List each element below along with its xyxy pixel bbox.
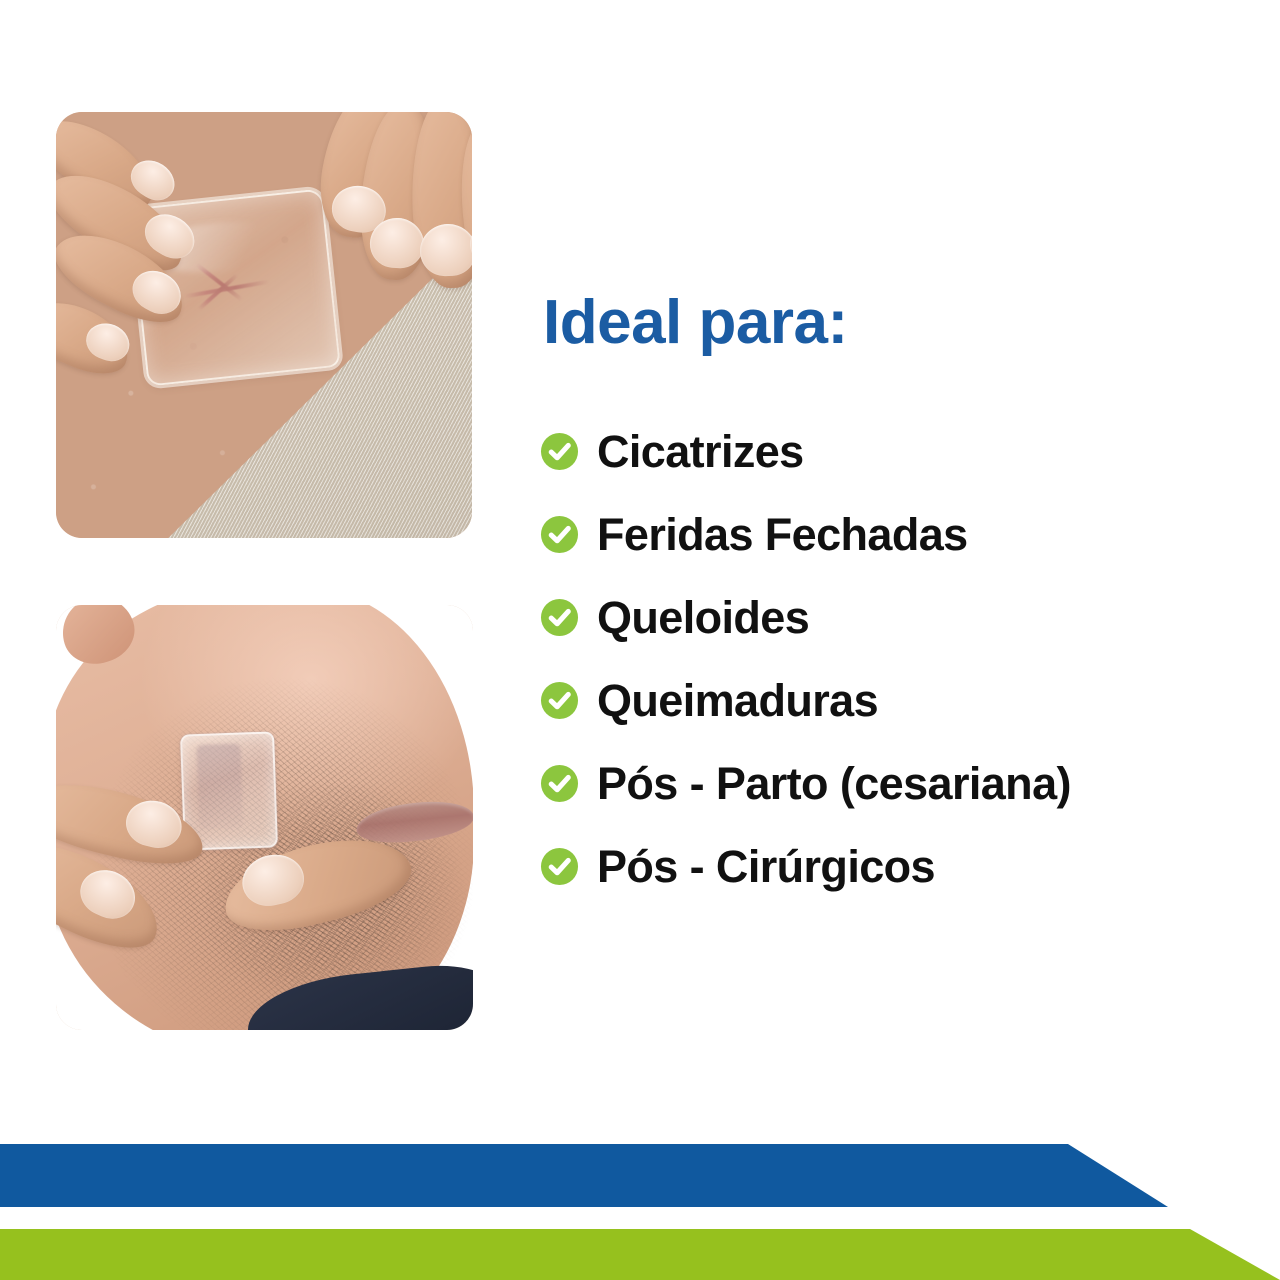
list-item: Feridas Fechadas [540,493,1240,576]
bottom-banner [0,1120,1280,1280]
check-circle-icon [540,847,579,886]
banner-blue-band [0,1144,1180,1207]
list-item: Queimaduras [540,659,1240,742]
silicone-sheet-on-scar-photo [56,112,472,538]
infographic-canvas: Ideal para: Cicatrizes Feridas Fechadas [0,0,1280,1280]
list-item: Pós - Parto (cesariana) [540,742,1240,825]
benefits-panel: Ideal para: Cicatrizes Feridas Fechadas [540,292,1240,908]
list-item-label: Queimaduras [597,678,878,723]
list-item: Cicatrizes [540,410,1240,493]
list-item-label: Queloides [597,595,809,640]
check-circle-icon [540,598,579,637]
check-circle-icon [540,515,579,554]
check-circle-icon [540,681,579,720]
list-item-label: Feridas Fechadas [597,512,968,557]
list-item-label: Pós - Cirúrgicos [597,844,935,889]
list-item-label: Cicatrizes [597,429,804,474]
list-item-label: Pós - Parto (cesariana) [597,761,1071,806]
list-item: Pós - Cirúrgicos [540,825,1240,908]
fingernail [419,223,472,277]
silicone-patch-on-face-photo [56,605,473,1030]
benefits-list: Cicatrizes Feridas Fechadas Queloides [540,410,1240,908]
banner-green-band [0,1229,1280,1280]
page-title: Ideal para: [543,292,1240,354]
check-circle-icon [540,764,579,803]
check-circle-icon [540,432,579,471]
list-item: Queloides [540,576,1240,659]
